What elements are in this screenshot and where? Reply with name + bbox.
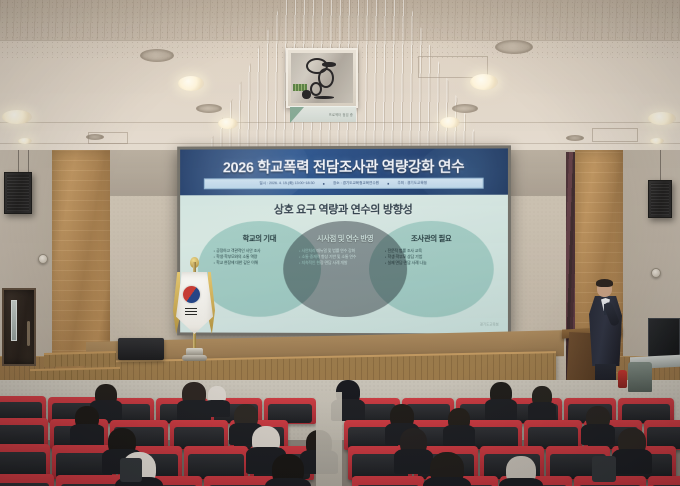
- audience-member: [506, 456, 536, 486]
- audience-member: [532, 386, 552, 407]
- ceiling-downlight: [470, 74, 498, 90]
- seat[interactable]: [0, 474, 54, 486]
- analog-wall-clock: [38, 254, 48, 264]
- audience-torso: [485, 399, 517, 420]
- floor-bag: [120, 458, 142, 482]
- speaker-grill: [7, 175, 29, 211]
- slide-banner: 2026 학교폭력 전담조사관 역량강화 연수 일시 : 2026. 4. 15…: [180, 148, 508, 195]
- recessed-light-off: [452, 104, 478, 113]
- projection-screen: 2026 학교폭력 전담조사관 역량강화 연수 일시 : 2026. 4. 15…: [177, 145, 511, 336]
- flag-stand-base: [182, 355, 207, 361]
- audience-torso: [70, 424, 105, 446]
- ceiling-projector-recess: [286, 48, 358, 108]
- banner-subline: 일시 : 2026. 4. 15.(화) 13:00~18:30 ● 장소 : …: [204, 178, 484, 190]
- audience-torso: [265, 478, 311, 486]
- korean-national-flag: [172, 262, 216, 366]
- venn-circle-header: 조사관의 필요: [411, 234, 451, 244]
- audience-torso: [499, 478, 542, 486]
- audience-member: [448, 408, 470, 431]
- ceiling: 프로젝터 점검 중: [0, 0, 680, 152]
- projector-cable-bundle: [302, 90, 311, 99]
- ceiling-downlight: [218, 118, 238, 129]
- speaker-wire: [660, 150, 661, 180]
- audience-member: [252, 426, 280, 455]
- recessed-light-off: [86, 134, 104, 140]
- audience-member: [400, 428, 427, 456]
- venn-diagram: 학교의 기대 공정하고 객관적인 사안 조사 학생·학부모와의 소통 역량 학교…: [198, 221, 494, 318]
- wall-mounted-loudspeaker: [4, 172, 32, 214]
- fire-extinguisher: [618, 370, 627, 388]
- ceiling-downlight: [178, 76, 204, 91]
- ceiling-access-panel: [592, 128, 638, 142]
- door-handle[interactable]: [27, 321, 30, 346]
- speaker-wire: [28, 150, 29, 172]
- venn-circle-header: 시사점 및 연수 반영: [317, 234, 373, 244]
- venn-circle-header: 학교의 기대: [243, 234, 277, 244]
- projector-cable-bundle: [322, 62, 336, 67]
- projector-cable-bundle: [314, 96, 334, 99]
- exit-door[interactable]: [2, 288, 36, 366]
- audience-member: [618, 428, 646, 456]
- projector-label-text: 프로젝터 점검 중: [329, 113, 353, 117]
- audience-torso: [394, 449, 433, 474]
- audience-torso: [443, 425, 475, 446]
- audience-member: [182, 382, 206, 406]
- venn-bullet: 지속적인 현장·면담 사례 개발: [299, 260, 391, 266]
- seat[interactable]: [352, 476, 424, 486]
- audience-member: [95, 384, 117, 406]
- presenter-hair: [596, 279, 613, 287]
- audience-torso: [423, 477, 472, 486]
- banner-subline-item: 장소 : 경기도교육청교육연수원: [333, 181, 379, 186]
- audience-member: [430, 452, 464, 486]
- projector-status-label: 프로젝터 점검 중: [290, 106, 356, 122]
- speaker-grill: [651, 183, 669, 215]
- center-aisle: [316, 392, 342, 486]
- slide-content: 2026 학교폭력 전담조사관 역량강화 연수 일시 : 2026. 4. 15…: [180, 148, 508, 333]
- seat[interactable]: [0, 444, 50, 478]
- stage-step: [44, 351, 116, 367]
- audience-member: [234, 404, 258, 429]
- label-corner-accent: [290, 107, 304, 123]
- projector-cable: [310, 82, 322, 96]
- slide-credit: 경기도교육청: [480, 321, 499, 326]
- audience-torso: [581, 424, 616, 446]
- side-monitor: [648, 318, 680, 358]
- seat-cushion: [0, 452, 46, 476]
- black-equipment-case: [118, 338, 164, 360]
- side-chair: [628, 362, 652, 392]
- banner-bullet: ●: [323, 181, 325, 186]
- ceiling-seam: [0, 40, 680, 41]
- audience-torso: [528, 402, 557, 421]
- analog-wall-clock: [651, 268, 661, 278]
- banner-subline-item: 주최 : 경기도교육청: [397, 181, 427, 186]
- audience-member: [272, 454, 304, 486]
- recessed-light-off: [566, 135, 584, 141]
- taeguk-symbol: [183, 286, 200, 303]
- audience-member: [490, 382, 512, 405]
- audience-member: [75, 406, 99, 430]
- recessed-light-off: [196, 104, 222, 113]
- ceiling-seam: [0, 122, 680, 123]
- audience-member: [586, 406, 610, 430]
- ceiling-downlight: [2, 110, 32, 124]
- audience-member: [208, 386, 226, 405]
- seat-cushion: [188, 454, 243, 478]
- door-window: [11, 300, 18, 341]
- banner-bullet: ●: [387, 181, 389, 186]
- trigram-bar: [185, 314, 197, 315]
- recessed-light-off: [495, 40, 533, 54]
- ceiling-downlight: [648, 112, 676, 125]
- ceiling-downlight: [18, 138, 32, 144]
- trigram-bar: [185, 311, 197, 312]
- seat[interactable]: [648, 476, 680, 486]
- trigram-bar: [185, 308, 197, 309]
- slide-title: 상호 요구 역량과 연수의 방향성: [180, 201, 508, 217]
- banner-subline-item: 일시 : 2026. 4. 15.(화) 13:00~18:30: [259, 181, 314, 186]
- venn-circle-implications: 시사점 및 연수 반영 사안처리 매뉴얼 및 법률 연수 강화 소통·중재력 향…: [283, 221, 407, 317]
- wall-mounted-loudspeaker: [648, 180, 672, 218]
- audience-torso: [612, 449, 652, 474]
- recessed-light-off: [140, 49, 174, 62]
- audience-member: [390, 404, 414, 429]
- audience-torso: [204, 400, 230, 417]
- speaker-wire: [18, 150, 19, 174]
- banner-title: 2026 학교폭력 전담조사관 역량강화 연수: [180, 155, 508, 177]
- floor-bag: [592, 456, 616, 482]
- venn-bullet-list: 사안처리 매뉴얼 및 법률 연수 강화 소통·중재력 향상 기반 및 소통 연수…: [299, 247, 391, 266]
- flag-cloth: [176, 272, 213, 334]
- auditorium-photo: 프로젝터 점검 중 2026 학교폭력 전담조사관 역량강화 연수: [0, 0, 680, 486]
- ceiling-downlight: [650, 138, 664, 144]
- ceiling-downlight: [440, 117, 460, 128]
- seat[interactable]: [184, 446, 248, 480]
